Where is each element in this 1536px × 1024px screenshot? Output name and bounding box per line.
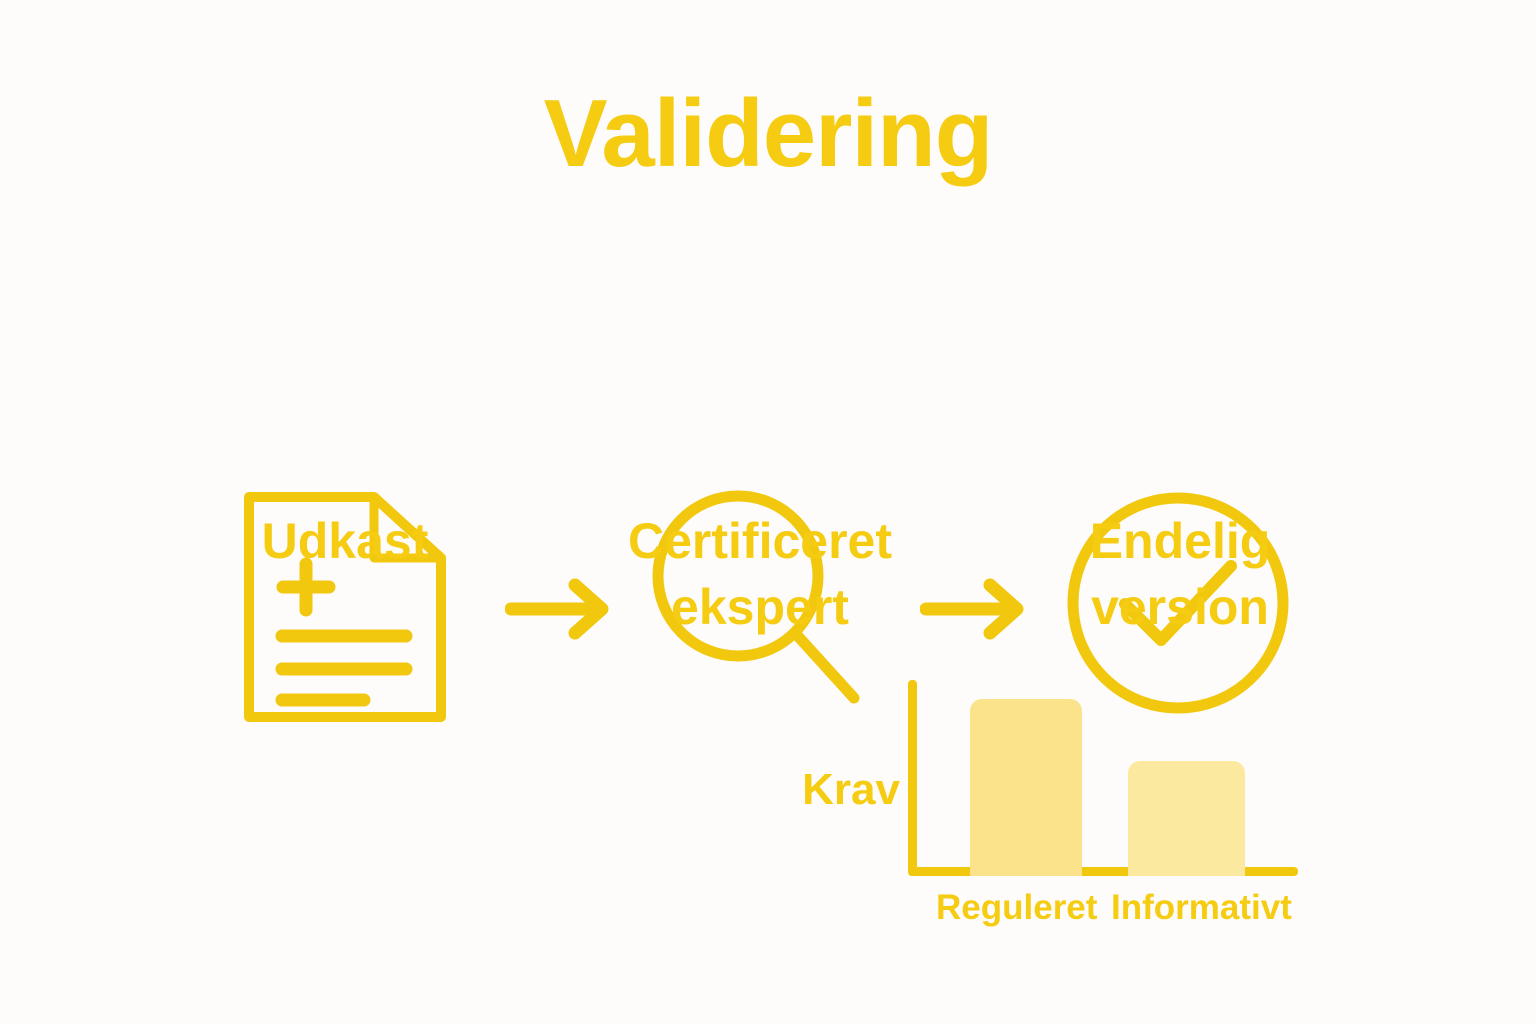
- krav-bar-chart: Krav Reguleret Informativt: [760, 660, 1320, 940]
- stage-label-udkast: Udkast: [180, 508, 510, 574]
- chart-y-axis-label: Krav: [760, 768, 900, 812]
- page-title: Validering: [0, 84, 1536, 185]
- chart-category-label-reguleret: Reguleret: [936, 888, 1097, 928]
- chart-y-axis-line: [908, 680, 917, 876]
- stage-label-certificeret-ekspert: Certificeret ekspert: [595, 508, 925, 640]
- stage-label-endelig-version: Endelig version: [1020, 508, 1340, 640]
- validation-flow: [0, 240, 1536, 500]
- chart-bar-informativt: [1128, 761, 1245, 876]
- diagram-canvas: Validering: [0, 0, 1536, 1024]
- chart-bar-reguleret: [970, 699, 1082, 876]
- chart-category-labels: Reguleret Informativt: [908, 888, 1308, 938]
- arrow-right-icon: [920, 576, 1030, 642]
- chart-category-label-informativt: Informativt: [1111, 888, 1292, 928]
